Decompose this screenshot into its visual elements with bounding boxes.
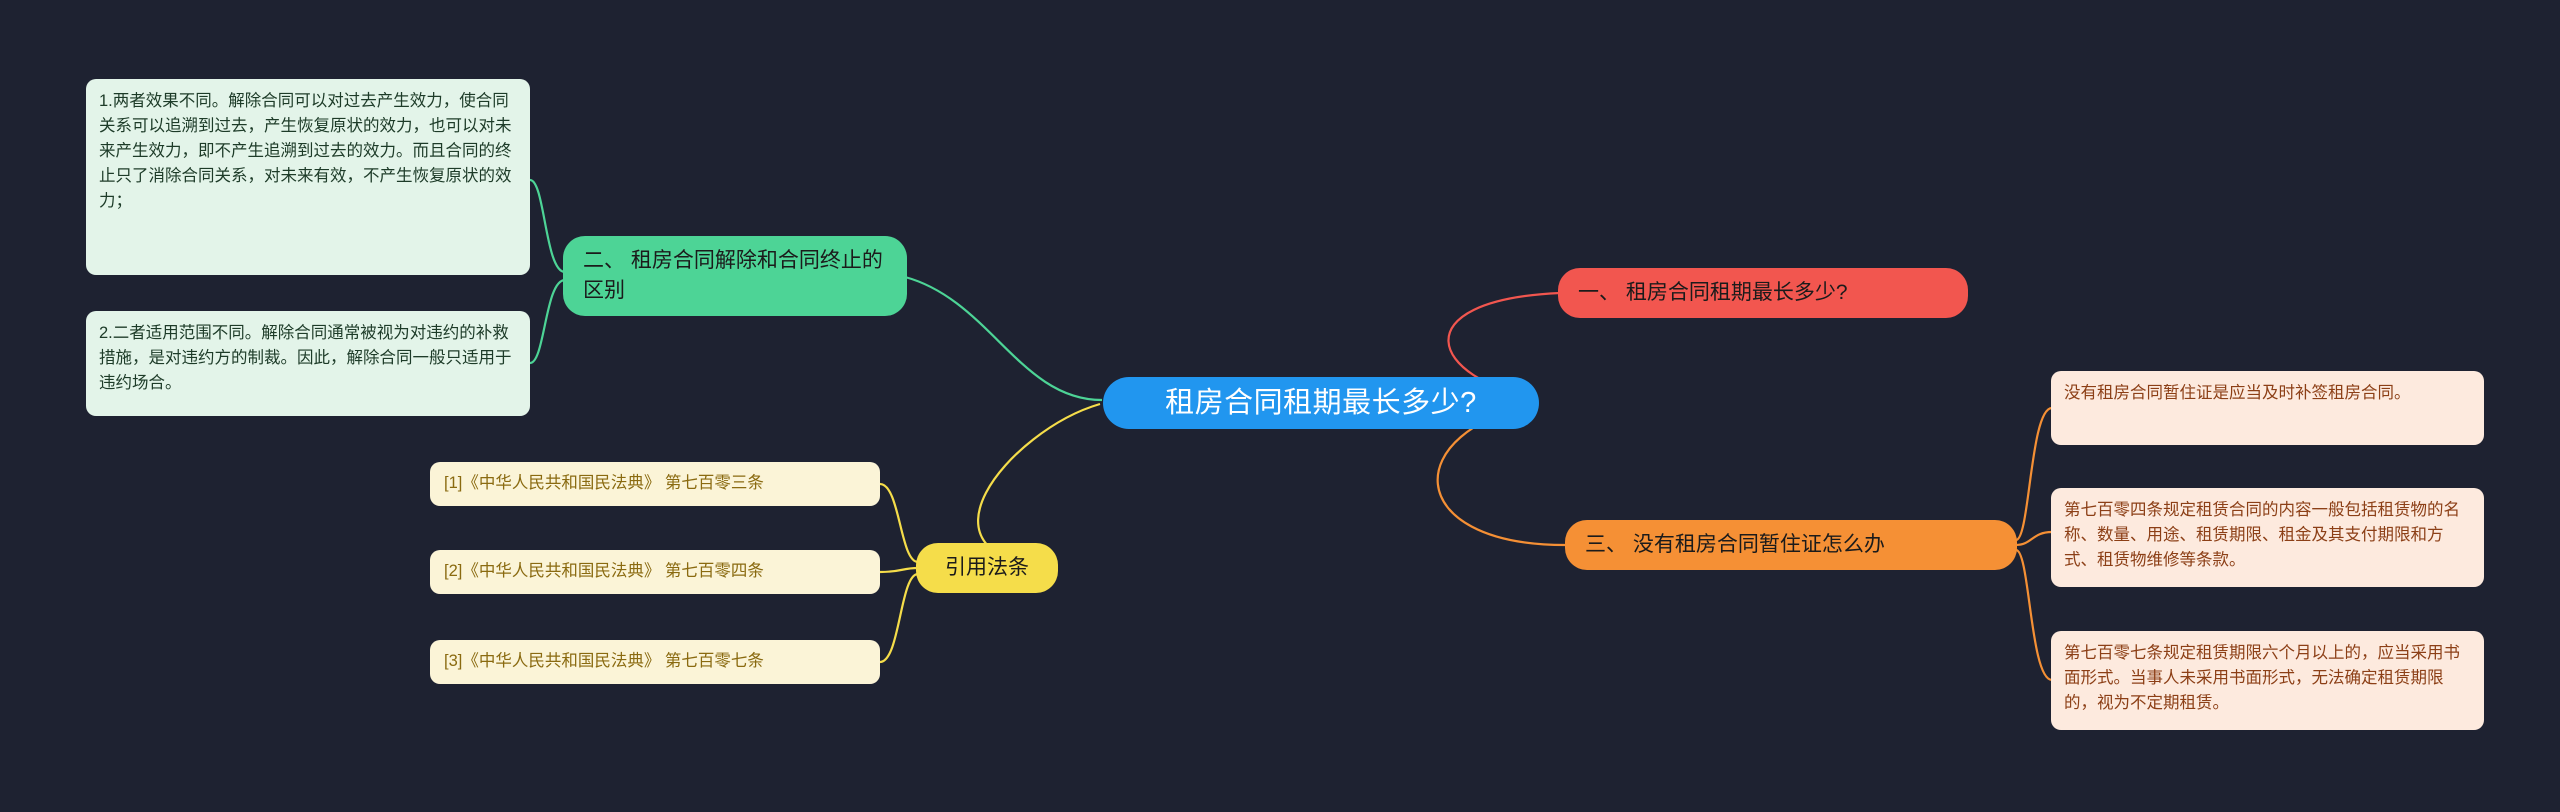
- branch-topic-one[interactable]: 一、 租房合同租期最长多少?: [1558, 268, 1968, 318]
- branch-topic-two[interactable]: 二、 租房合同解除和合同终止的区别: [563, 236, 907, 316]
- mindmap-canvas: 租房合同租期最长多少? 二、 租房合同解除和合同终止的区别 1.两者效果不同。解…: [0, 0, 2560, 812]
- edge-citations-to-card-1: [880, 484, 918, 562]
- note-card-mint-2[interactable]: 2.二者适用范围不同。解除合同通常被视为对违约的补救措施，是对违约方的制裁。因此…: [86, 311, 530, 416]
- edge-topic-three-to-peach-1: [2016, 408, 2052, 540]
- root-node[interactable]: 租房合同租期最长多少?: [1103, 377, 1539, 429]
- note-card-peach-2[interactable]: 第七百零四条规定租赁合同的内容一般包括租赁物的名称、数量、用途、租赁期限、租金及…: [2051, 488, 2484, 587]
- branch-topic-three[interactable]: 三、 没有租房合同暂住证怎么办: [1565, 520, 2017, 570]
- note-card-peach-3[interactable]: 第七百零七条规定租赁期限六个月以上的，应当采用书面形式。当事人未采用书面形式，无…: [2051, 631, 2484, 730]
- edge-citations-to-card-3: [880, 574, 918, 662]
- note-card-peach-1[interactable]: 没有租房合同暂住证是应当及时补签租房合同。: [2051, 371, 2484, 445]
- citation-card-3[interactable]: [3]《中华人民共和国民法典》 第七百零七条: [430, 640, 880, 684]
- citation-card-2[interactable]: [2]《中华人民共和国民法典》 第七百零四条: [430, 550, 880, 594]
- edge-topic-three-to-peach-2: [2016, 532, 2052, 545]
- edge-root-to-topic-two: [905, 277, 1102, 400]
- edge-topic-three-to-peach-3: [2016, 550, 2052, 680]
- branch-citations[interactable]: 引用法条: [916, 543, 1058, 593]
- citation-card-1[interactable]: [1]《中华人民共和国民法典》 第七百零三条: [430, 462, 880, 506]
- note-card-mint-1[interactable]: 1.两者效果不同。解除合同可以对过去产生效力，使合同关系可以追溯到过去，产生恢复…: [86, 79, 530, 275]
- edge-topic-two-to-note-2: [530, 280, 565, 363]
- edge-topic-two-to-note-1: [530, 180, 565, 272]
- edge-citations-to-card-2: [880, 568, 918, 572]
